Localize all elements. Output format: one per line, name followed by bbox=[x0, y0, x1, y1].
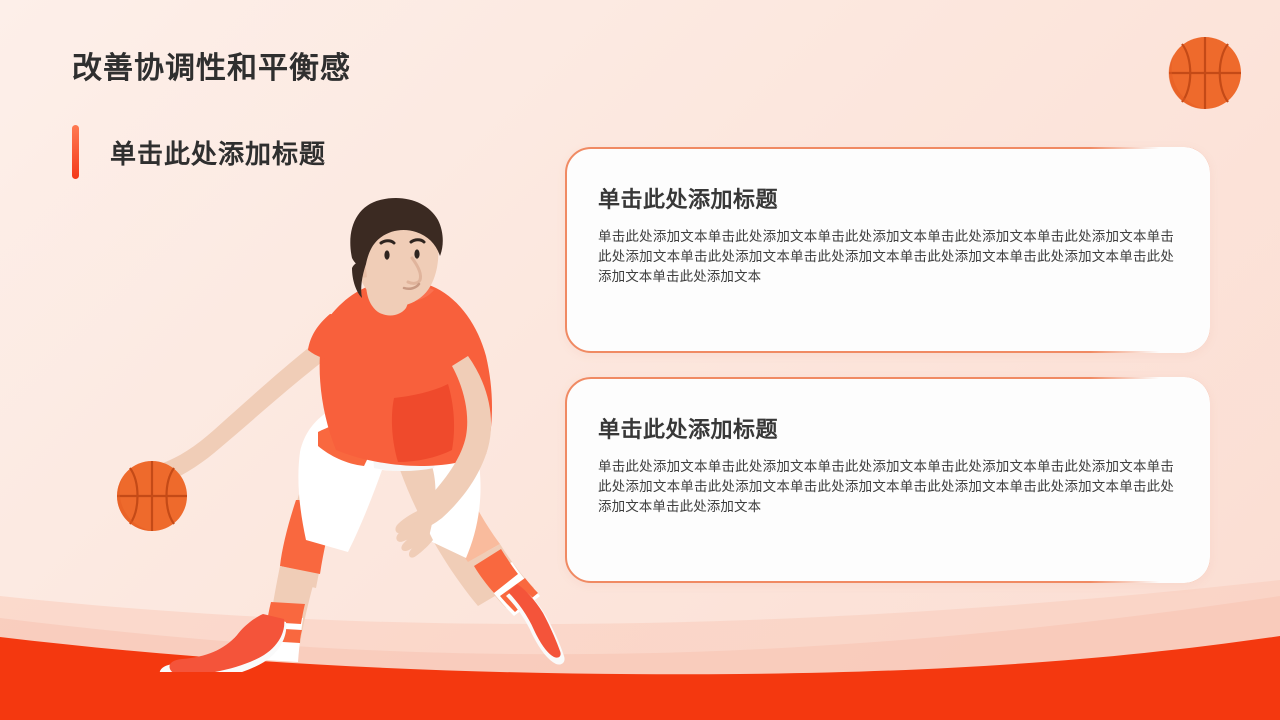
card-content: 单击此处添加标题 单击此处添加文本单击此处添加文本单击此处添加文本单击此处添加文… bbox=[567, 379, 1208, 517]
card-title: 单击此处添加标题 bbox=[598, 182, 1174, 214]
card-title: 单击此处添加标题 bbox=[598, 412, 1174, 444]
card-body: 单击此处添加文本单击此处添加文本单击此处添加文本单击此处添加文本单击此处添加文本… bbox=[598, 457, 1174, 517]
slide-canvas: 改善协调性和平衡感 单击此处添加标题 单击此处添加标题 单击此处添加文本单击此处… bbox=[0, 0, 1280, 720]
basketball-icon bbox=[1168, 36, 1242, 110]
content-card[interactable]: 单击此处添加标题 单击此处添加文本单击此处添加文本单击此处添加文本单击此处添加文… bbox=[565, 147, 1210, 353]
basketball-icon bbox=[116, 460, 188, 532]
subtitle-row: 单击此处添加标题 bbox=[72, 125, 351, 179]
card-content: 单击此处添加标题 单击此处添加文本单击此处添加文本单击此处添加文本单击此处添加文… bbox=[567, 149, 1208, 287]
heading-block: 改善协调性和平衡感 单击此处添加标题 bbox=[72, 52, 351, 179]
card-body: 单击此处添加文本单击此处添加文本单击此处添加文本单击此处添加文本单击此处添加文本… bbox=[598, 227, 1174, 287]
accent-bar bbox=[72, 125, 79, 179]
page-title: 改善协调性和平衡感 bbox=[72, 52, 351, 85]
page-subtitle: 单击此处添加标题 bbox=[110, 134, 326, 171]
content-card[interactable]: 单击此处添加标题 单击此处添加文本单击此处添加文本单击此处添加文本单击此处添加文… bbox=[565, 377, 1210, 583]
